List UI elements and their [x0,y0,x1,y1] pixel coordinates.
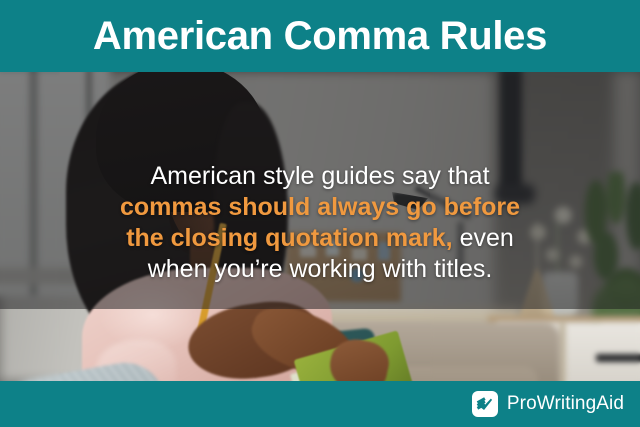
footer-banner: ProWritingAid [0,381,640,427]
caption-line-2: commas should always go before [120,192,520,223]
caption-line-1-text: American style guides say that [150,162,489,190]
caption-line-3-highlight: the closing quotation mark, [126,224,452,252]
caption-line-3: the closing quotation mark, even [126,223,514,254]
caption-line-1: American style guides say that [150,161,489,192]
page-title: American Comma Rules [93,16,547,56]
caption-line-4: when you’re working with titles. [148,254,493,285]
brand-logo[interactable]: ProWritingAid [472,391,624,417]
logo-mark [472,391,498,417]
caption-line-3-rest: even [453,224,514,252]
caption-line-2-highlight: commas should always go before [120,193,520,221]
brand-name: ProWritingAid [507,393,624,415]
comma-rules-poster: American Comma Rules American style guid… [0,0,640,427]
stacked-books-icon [475,395,494,414]
header-banner: American Comma Rules [0,0,640,72]
caption-line-4-text: when you’re working with titles. [148,255,493,283]
caption-block: American style guides say that commas sh… [0,72,640,381]
